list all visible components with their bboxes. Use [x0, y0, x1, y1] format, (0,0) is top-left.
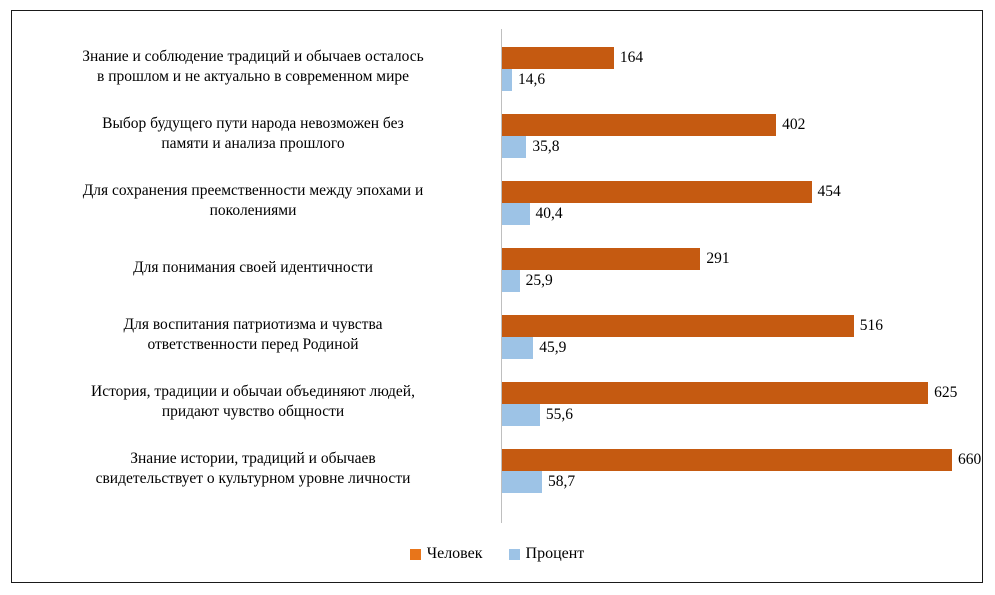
bar-pair: 66058,7: [502, 435, 982, 502]
bar-people[interactable]: [502, 114, 776, 136]
bar-row-percent: 40,4: [502, 203, 563, 225]
bar-row-people: 164: [502, 47, 643, 69]
legend-item[interactable]: Процент: [509, 545, 585, 563]
category-label-line: Для понимания своей идентичности: [133, 258, 373, 278]
bar-value-people: 164: [620, 47, 643, 69]
bar-row-percent: 55,6: [502, 404, 573, 426]
category-label: История, традиции и обычаи объединяют лю…: [20, 368, 492, 435]
bar-value-percent: 40,4: [536, 203, 563, 225]
bar-value-people: 402: [782, 114, 805, 136]
category-label-line: придают чувство общности: [162, 402, 344, 422]
bar-row-percent: 35,8: [502, 136, 560, 158]
bar-row-percent: 45,9: [502, 337, 566, 359]
category-label: Для воспитания патриотизма и чувстваотве…: [20, 301, 492, 368]
bar-value-percent: 25,9: [526, 270, 553, 292]
bar-group: История, традиции и обычаи объединяют лю…: [12, 368, 982, 435]
category-label-line: Выбор будущего пути народа невозможен бе…: [102, 114, 404, 134]
bar-people[interactable]: [502, 449, 952, 471]
category-label: Выбор будущего пути народа невозможен бе…: [20, 100, 492, 167]
bar-value-people: 660: [958, 449, 981, 471]
chart-container: Знание и соблюдение традиций и обычаев о…: [11, 10, 983, 583]
bar-row-people: 454: [502, 181, 841, 203]
bar-group: Выбор будущего пути народа невозможен бе…: [12, 100, 982, 167]
legend-swatch-icon: [509, 549, 520, 560]
bar-row-people: 402: [502, 114, 805, 136]
category-label-line: Знание и соблюдение традиций и обычаев о…: [82, 47, 424, 67]
bar-people[interactable]: [502, 382, 928, 404]
bar-value-percent: 14,6: [518, 69, 545, 91]
legend-item[interactable]: Человек: [410, 545, 483, 563]
bar-percent[interactable]: [502, 471, 542, 493]
bar-row-percent: 58,7: [502, 471, 575, 493]
category-label-line: памяти и анализа прошлого: [161, 134, 344, 154]
legend-label: Процент: [526, 545, 585, 563]
bar-group: Для понимания своей идентичности29125,9: [12, 234, 982, 301]
bar-percent[interactable]: [502, 270, 520, 292]
bar-percent[interactable]: [502, 404, 540, 426]
bar-value-percent: 45,9: [539, 337, 566, 359]
bar-row-people: 291: [502, 248, 730, 270]
legend-swatch-icon: [410, 549, 421, 560]
bar-pair: 40235,8: [502, 100, 982, 167]
chart-legend: ЧеловекПроцент: [12, 539, 982, 569]
bar-group: Знание и соблюдение традиций и обычаев о…: [12, 33, 982, 100]
plot-area: Знание и соблюдение традиций и обычаев о…: [12, 11, 982, 523]
category-label: Знание истории, традиций и обычаевсвидет…: [20, 435, 492, 502]
bar-people[interactable]: [502, 47, 614, 69]
bar-pair: 62555,6: [502, 368, 982, 435]
bar-value-people: 291: [706, 248, 729, 270]
bar-people[interactable]: [502, 248, 700, 270]
bar-percent[interactable]: [502, 136, 526, 158]
category-label-line: свидетельствует о культурном уровне личн…: [96, 469, 411, 489]
bar-value-percent: 35,8: [532, 136, 559, 158]
bar-value-people: 516: [860, 315, 883, 337]
category-label: Знание и соблюдение традиций и обычаев о…: [20, 33, 492, 100]
bar-pair: 29125,9: [502, 234, 982, 301]
category-label-line: Для воспитания патриотизма и чувства: [124, 315, 383, 335]
category-label: Для понимания своей идентичности: [20, 234, 492, 301]
bar-value-people: 454: [818, 181, 841, 203]
category-label-line: История, традиции и обычаи объединяют лю…: [91, 382, 415, 402]
category-label-line: Для сохранения преемственности между эпо…: [83, 181, 424, 201]
category-label-line: поколениями: [210, 201, 297, 221]
bar-group: Для воспитания патриотизма и чувстваотве…: [12, 301, 982, 368]
category-label-line: Знание истории, традиций и обычаев: [130, 449, 376, 469]
bar-group: Знание истории, традиций и обычаевсвидет…: [12, 435, 982, 502]
bar-group: Для сохранения преемственности между эпо…: [12, 167, 982, 234]
category-label: Для сохранения преемственности между эпо…: [20, 167, 492, 234]
bar-row-percent: 14,6: [502, 69, 545, 91]
bar-percent[interactable]: [502, 69, 512, 91]
bar-pair: 51645,9: [502, 301, 982, 368]
bar-row-people: 516: [502, 315, 883, 337]
bar-people[interactable]: [502, 181, 812, 203]
bar-row-people: 660: [502, 449, 981, 471]
category-label-line: ответственности перед Родиной: [147, 335, 358, 355]
bar-value-percent: 55,6: [546, 404, 573, 426]
legend-label: Человек: [427, 545, 483, 563]
bar-percent[interactable]: [502, 203, 530, 225]
bar-people[interactable]: [502, 315, 854, 337]
bar-pair: 16414,6: [502, 33, 982, 100]
bar-value-percent: 58,7: [548, 471, 575, 493]
bar-row-people: 625: [502, 382, 957, 404]
bar-pair: 45440,4: [502, 167, 982, 234]
bar-value-people: 625: [934, 382, 957, 404]
bar-percent[interactable]: [502, 337, 533, 359]
category-label-line: в прошлом и не актуально в современном м…: [97, 67, 409, 87]
bar-row-percent: 25,9: [502, 270, 553, 292]
